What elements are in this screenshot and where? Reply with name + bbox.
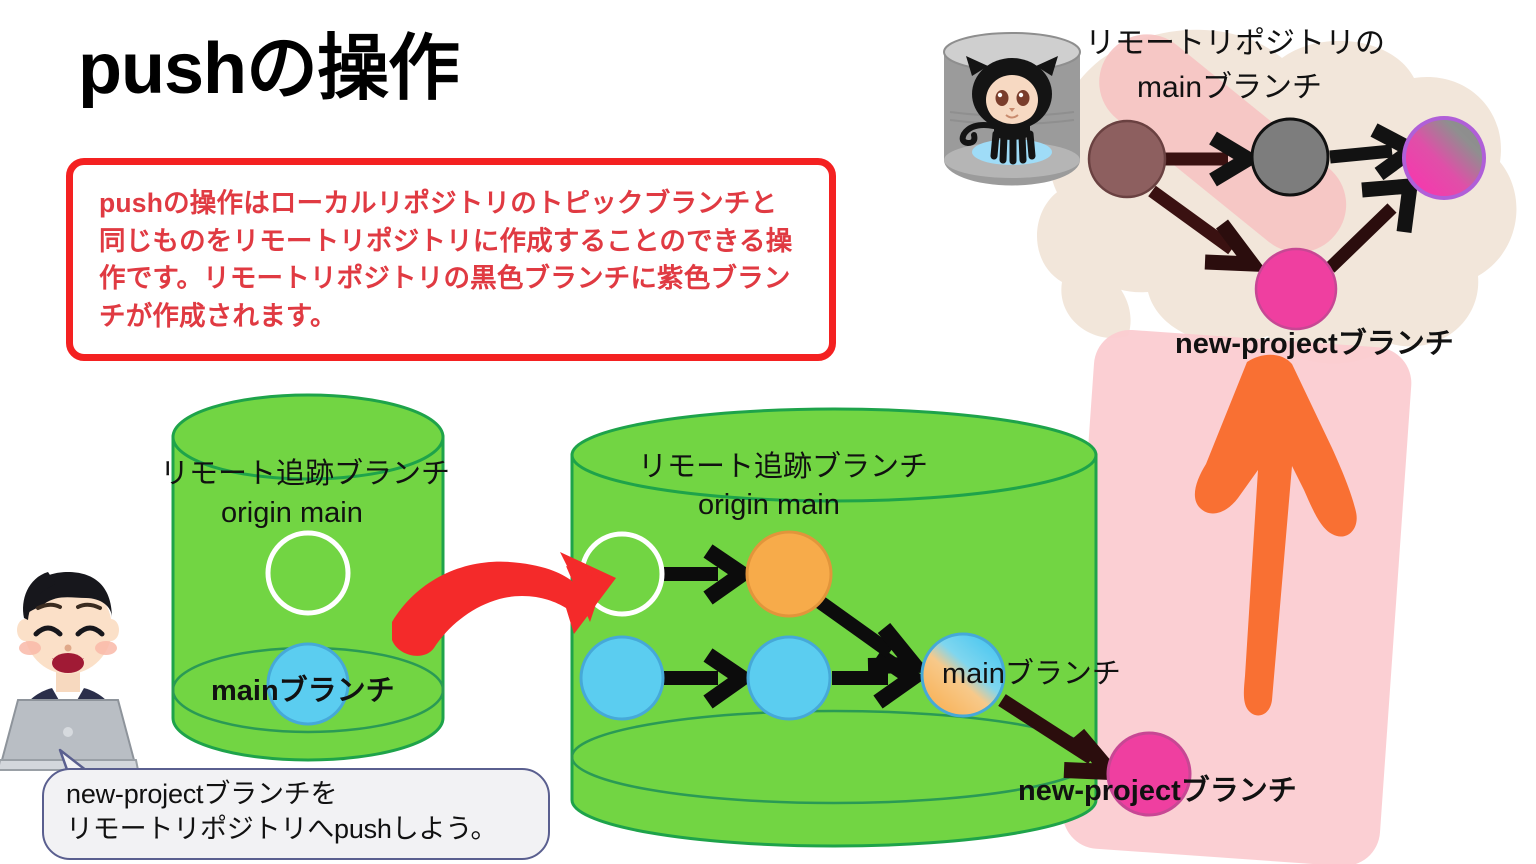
speech-bubble-text: new-projectブランチを リモートリポジトリへpushしよう。 xyxy=(66,777,528,847)
businessman-with-laptop-icon xyxy=(0,572,138,770)
businessman-with-laptop-icon-layer xyxy=(0,0,1536,864)
slide-canvas: pushの操作 pushの操作はローカルリポジトリのトピックブランチと同じものを… xyxy=(0,0,1536,864)
speech-bubble: new-projectブランチを リモートリポジトリへpushしよう。 xyxy=(42,768,550,860)
speech-line-2: リモートリポジトリへpushしよう。 xyxy=(66,812,528,847)
speech-line-1: new-projectブランチを xyxy=(66,777,528,812)
